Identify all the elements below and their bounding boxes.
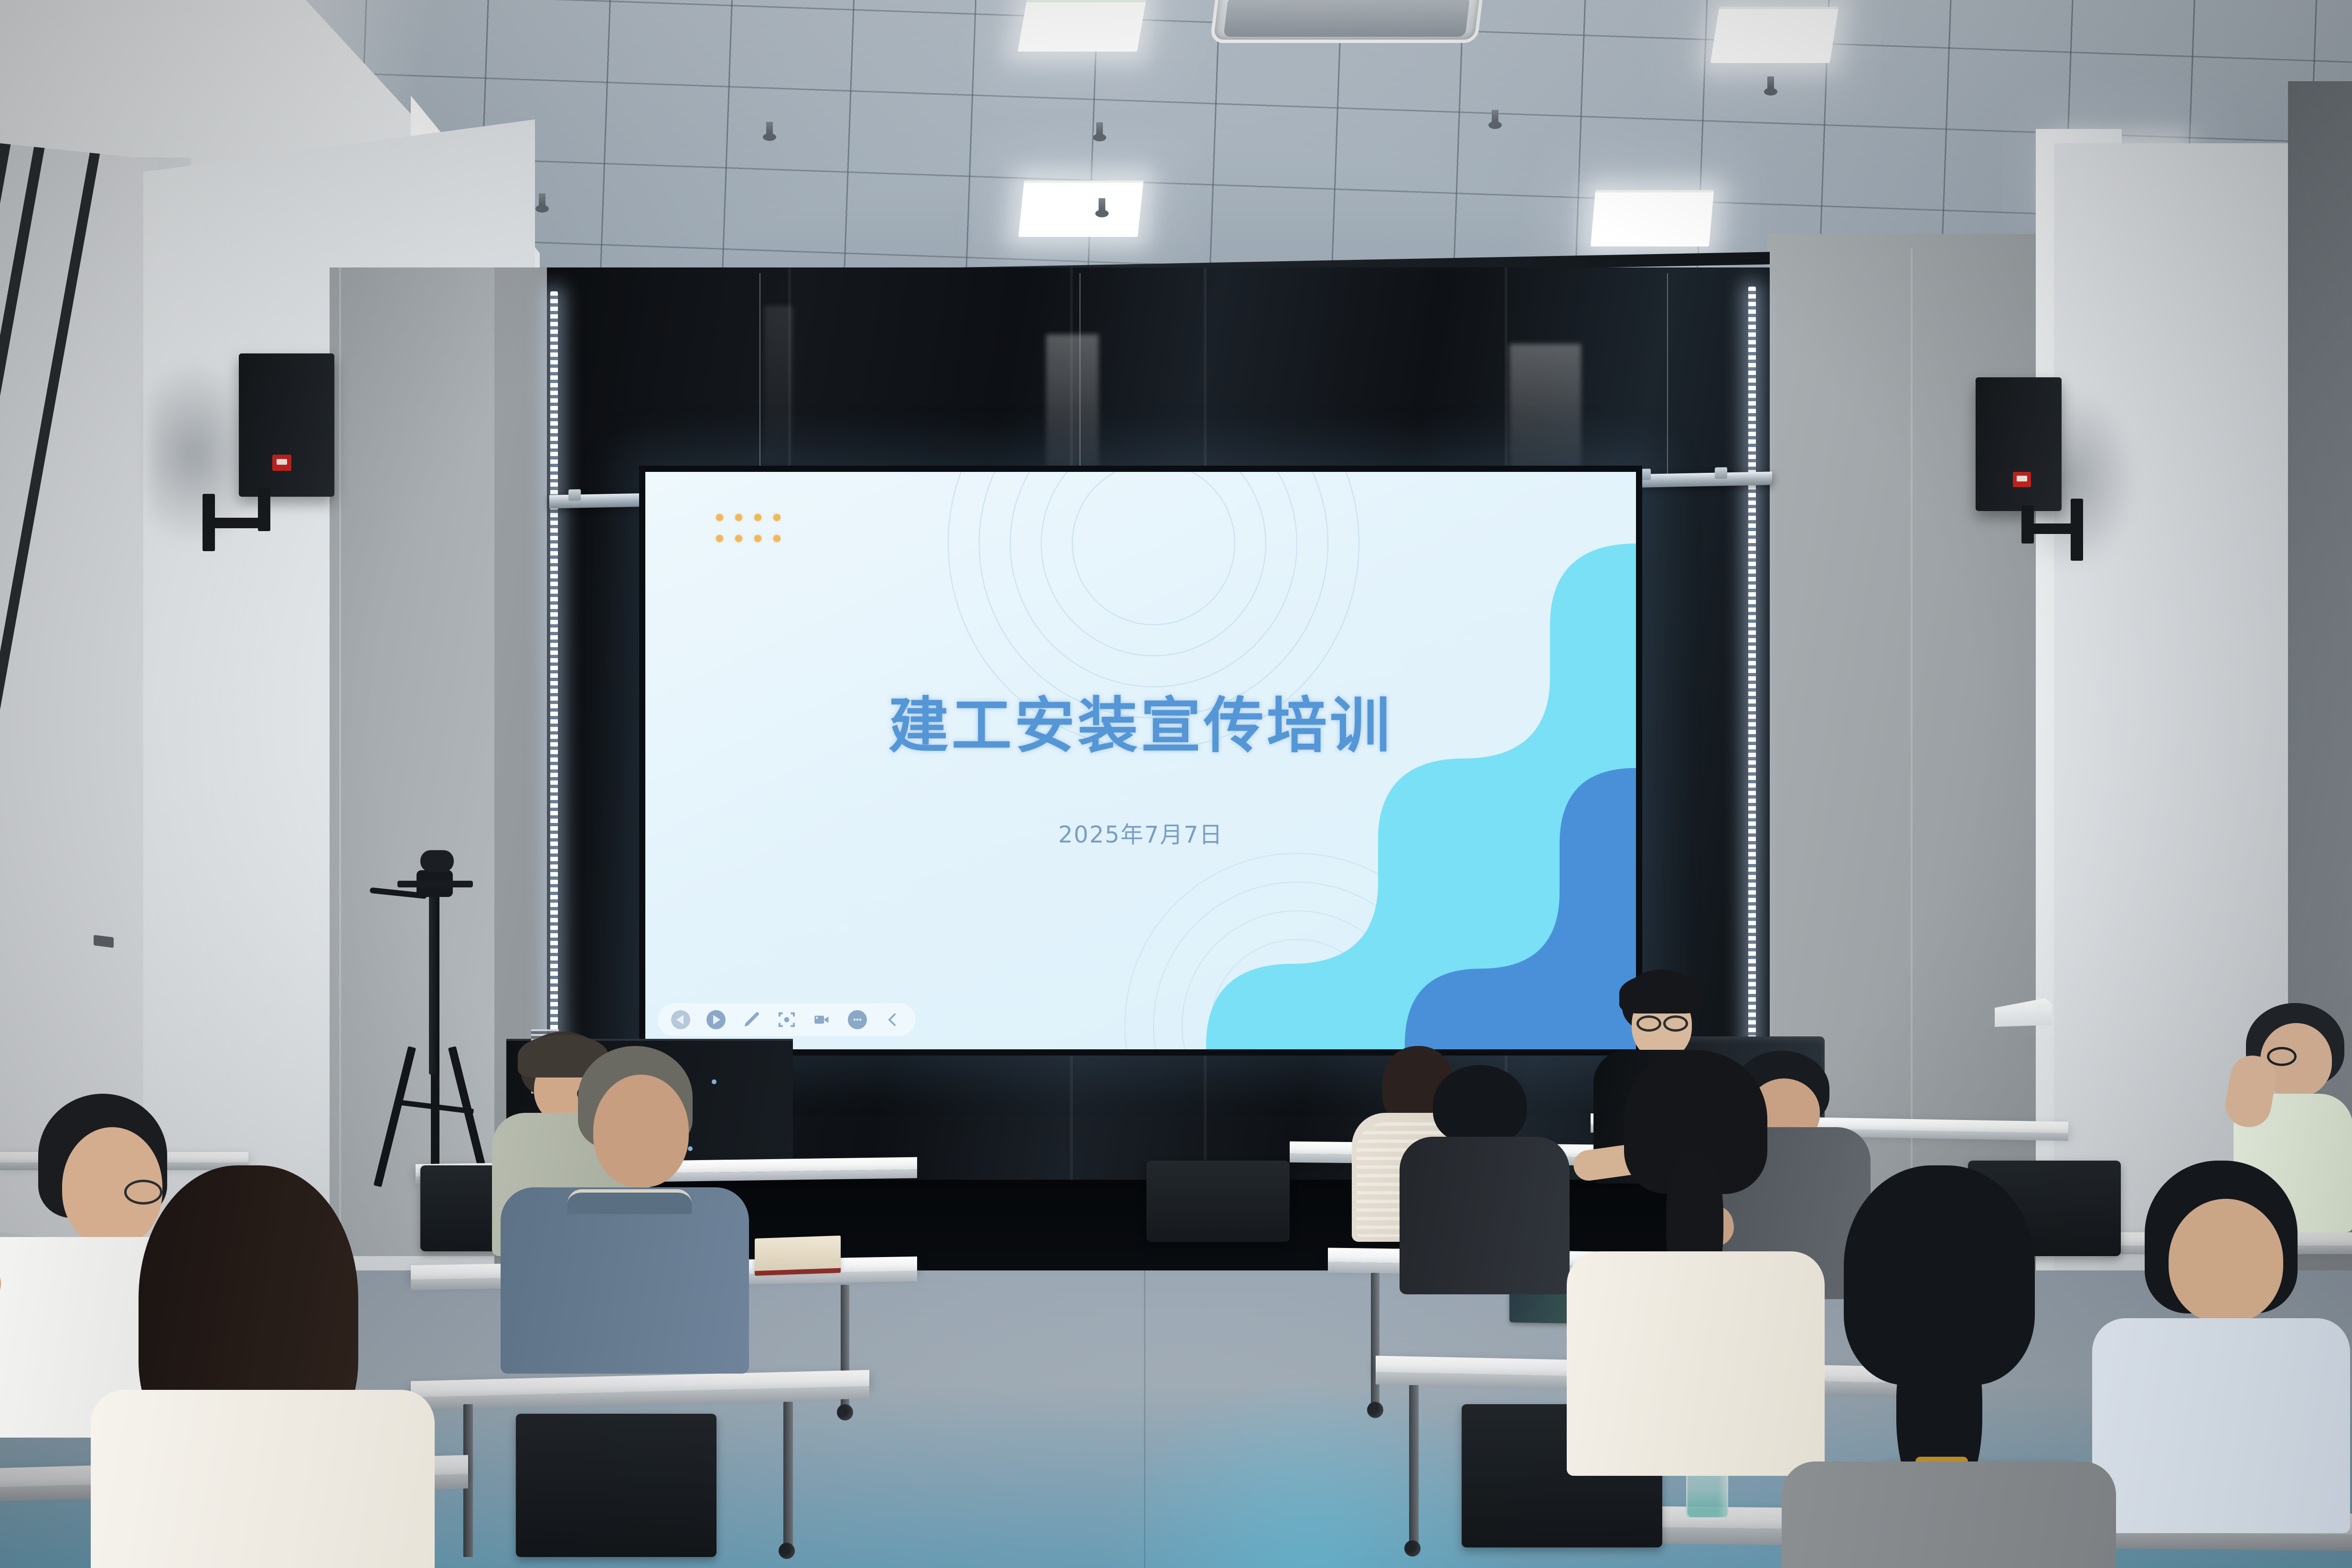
speaker-right	[1968, 377, 2130, 616]
focus-brackets-icon	[777, 1010, 796, 1029]
wall-far-right-recess	[2288, 81, 2352, 1122]
glasses-lens-left	[2267, 1047, 2297, 1066]
ceiling-light-panel	[1017, 0, 1146, 52]
hair	[1433, 1065, 1527, 1144]
collapse-toolbar-button[interactable]	[882, 1009, 903, 1030]
attendee-gray-top-front	[1758, 1165, 2121, 1568]
rail-clip	[568, 489, 581, 501]
dots-horizontal-circle-icon	[848, 1010, 867, 1029]
speaker-cabinet	[1976, 377, 2062, 511]
torso	[2092, 1318, 2350, 1533]
slide-subtitle-date: 2025年7月7日	[645, 816, 1636, 849]
torso	[501, 1187, 749, 1374]
sprinkler-head	[539, 193, 545, 211]
sprinkler-head	[1767, 76, 1774, 94]
attendee-blue-polo	[482, 1046, 750, 1371]
chair[interactable]	[516, 1414, 716, 1557]
desk-caster[interactable]	[1404, 1540, 1421, 1557]
desk-leg	[1371, 1273, 1379, 1407]
rail-hanging-wire	[1667, 273, 1668, 483]
slide-title: 建工安装宣传培训	[645, 677, 1636, 764]
ceiling-light-panel	[1591, 190, 1714, 246]
speaker-left	[182, 353, 353, 602]
tripod-center-column	[429, 893, 439, 1075]
sprinkler-head	[1099, 198, 1105, 215]
polo-collar	[567, 1189, 692, 1214]
presentation-slide[interactable]: 建工安装宣传培训 2025年7月7日	[645, 472, 1636, 1049]
torso	[91, 1390, 435, 1568]
notebook[interactable]	[755, 1236, 841, 1272]
sprinkler-head	[766, 122, 773, 139]
previous-slide-button[interactable]	[670, 1009, 691, 1030]
ceiling-light-panel	[1711, 7, 1839, 63]
laser-pointer-button[interactable]	[776, 1009, 797, 1030]
triangle-right-circle-icon	[706, 1010, 726, 1029]
next-slide-button[interactable]	[706, 1009, 727, 1030]
pencil-icon	[742, 1010, 761, 1029]
panel-reflection	[1509, 344, 1581, 482]
glasses-lens-left	[1636, 1015, 1661, 1032]
desk-leg	[1409, 1385, 1419, 1543]
more-options-button[interactable]	[847, 1009, 868, 1030]
attendee-light-blue-shirt	[2083, 1161, 2352, 1533]
sprinkler-head	[1096, 122, 1103, 139]
panel-reflection	[1046, 334, 1099, 482]
tripod-camera	[420, 850, 454, 872]
presentation-toolbar[interactable]	[658, 1003, 916, 1036]
training-room-scene: 建工安装宣传培训 2025年7月7日	[0, 0, 2352, 1568]
tripod-phone-mount	[397, 881, 473, 887]
triangle-left-circle-icon	[671, 1010, 690, 1029]
desk-caster[interactable]	[779, 1543, 795, 1559]
chevron-left-icon	[885, 1010, 901, 1029]
rail-hanging-wire	[759, 273, 760, 483]
hair-front	[1619, 973, 1703, 1013]
vent-grille	[1223, 0, 1470, 37]
decor-dot-grid	[716, 514, 792, 556]
rail-hanging-wire	[1080, 273, 1080, 483]
desk-caster[interactable]	[837, 1404, 853, 1420]
desk-leg	[783, 1402, 793, 1545]
speaker-mount-upright	[2021, 505, 2034, 544]
rail-clip	[1715, 467, 1727, 479]
jbl-logo	[2013, 472, 2031, 487]
panel-reflection	[764, 306, 793, 463]
speaker-cabinet	[239, 353, 334, 497]
chair[interactable]	[1146, 1161, 1290, 1242]
head	[2169, 1199, 2283, 1323]
projection-screen[interactable]: 建工安装宣传培训 2025年7月7日	[639, 466, 1642, 1056]
record-video-button[interactable]	[812, 1009, 833, 1030]
jbl-logo	[272, 455, 291, 471]
attendee-long-hair-white	[62, 1165, 468, 1568]
annotate-pen-button[interactable]	[741, 1009, 762, 1030]
speaker-mount-upright	[258, 488, 270, 531]
ceiling-light-panel	[1018, 181, 1144, 237]
video-camera-icon	[813, 1010, 832, 1029]
desk-caster[interactable]	[1367, 1402, 1383, 1418]
glasses-lens-right	[1663, 1015, 1688, 1032]
air-conditioning-vent	[1210, 0, 1485, 43]
wall-left-slat-panels	[0, 143, 158, 1249]
torso	[1782, 1461, 2116, 1568]
head	[593, 1075, 689, 1187]
sprinkler-head	[1492, 110, 1498, 127]
